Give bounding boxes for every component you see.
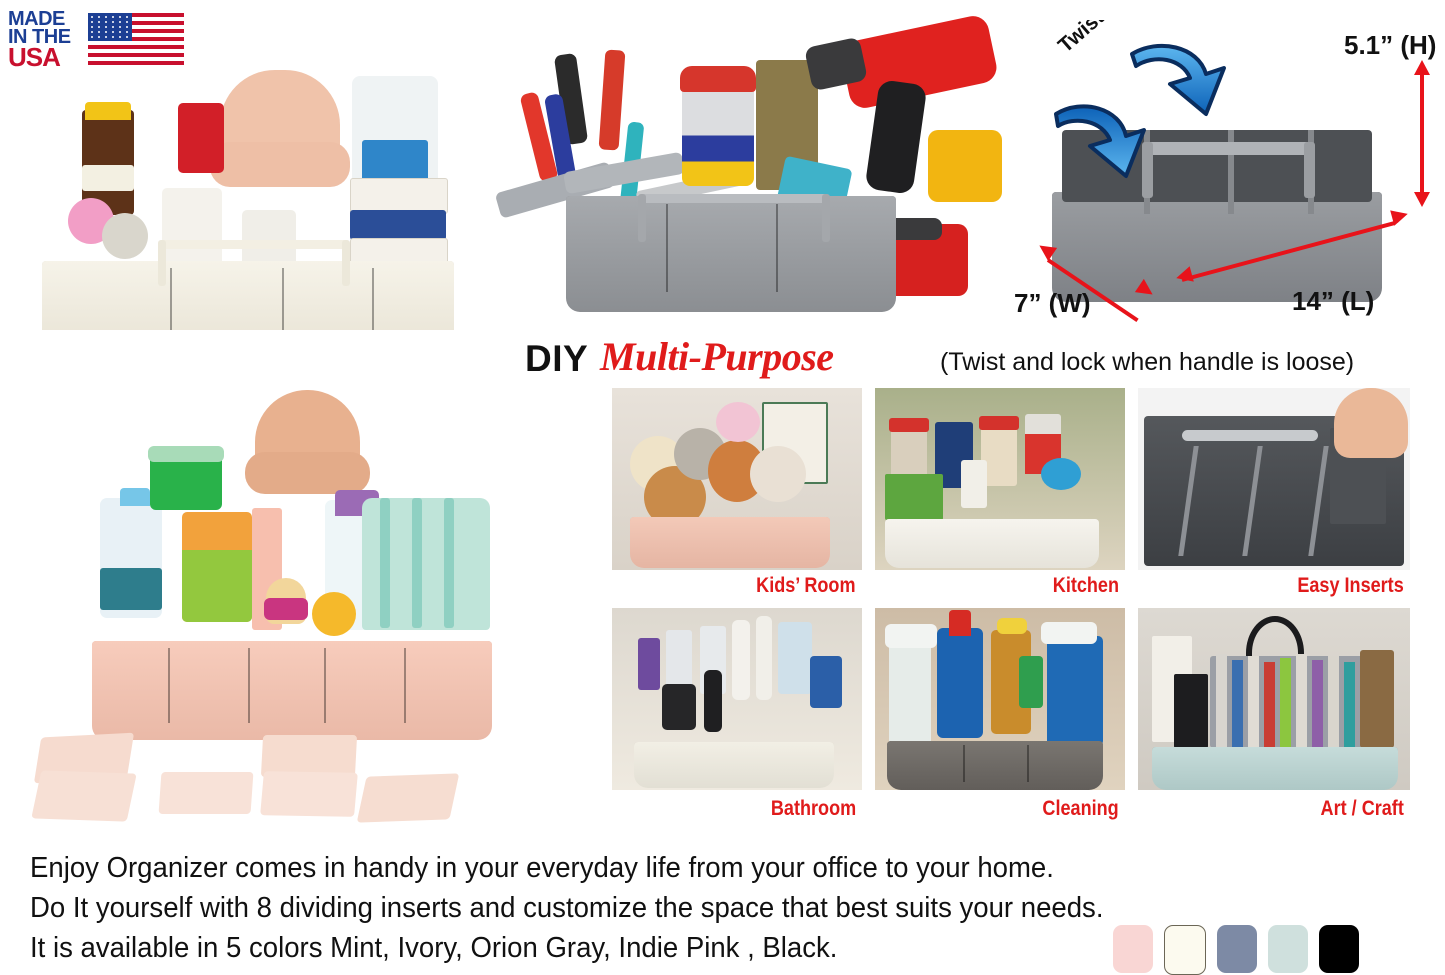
use-case-cell: Kids’ Room: [612, 388, 862, 600]
length-arrow-right: [1390, 206, 1410, 226]
vitamin-label: [82, 165, 134, 191]
caddy-dark-gray: [887, 706, 1103, 790]
alcohol-label: [362, 140, 428, 182]
divider-insert-2: [31, 770, 136, 821]
use-case-cell: Kitchen: [875, 388, 1125, 600]
toothbrush: [756, 616, 772, 700]
toothbrush: [732, 620, 750, 700]
caddy-pink: [630, 480, 830, 568]
jar-lid: [979, 416, 1019, 430]
badge-line-3: USA: [8, 46, 86, 69]
handle: [1182, 430, 1318, 441]
plush-toy: [716, 402, 760, 442]
toiletry-bottle: [638, 638, 660, 690]
height-label: 5.1” (H): [1344, 30, 1436, 61]
hand-fingers: [210, 142, 350, 187]
badge-line-1: MADE: [8, 10, 86, 28]
twist-lock-note: (Twist and lock when handle is loose): [940, 348, 1354, 377]
use-case-cell: Art / Craft: [1138, 608, 1410, 823]
divider-insert-3: [159, 772, 254, 814]
blue-dispenser: [810, 656, 842, 708]
mouthwash: [778, 622, 812, 694]
photo-tool-caddy: [478, 12, 1008, 322]
us-flag-icon: [88, 13, 184, 65]
headline-diy: DIY: [525, 338, 588, 380]
vitamin-cap: [85, 102, 131, 120]
yellow-cap: [997, 618, 1027, 634]
wd40-cap: [680, 66, 756, 92]
made-in-usa-badge: MADE IN THE USA: [8, 8, 188, 70]
use-case-cell: Bathroom: [612, 608, 862, 823]
use-case-caption: Kitchen: [1053, 574, 1119, 598]
red-bottle: [178, 103, 224, 173]
photo-dimension-diagram: 5.1” (H) 7” (W) 14” (L) Twist Lock: [1010, 20, 1445, 340]
height-arrow-up: [1414, 60, 1430, 75]
use-case-caption: Cleaning: [1043, 797, 1119, 821]
width-label: 7” (W): [1014, 288, 1091, 319]
swatch-indie-pink: [1113, 925, 1153, 973]
use-case-cell: Cleaning: [875, 608, 1125, 823]
swatch-orion-gray: [1217, 925, 1257, 973]
swatch-ivory: [1164, 925, 1206, 975]
baby-powder-cap: [120, 488, 150, 506]
jar-lid: [889, 418, 929, 432]
use-case-caption: Bathroom: [771, 797, 856, 821]
description-block: Enjoy Organizer comes in handy in your e…: [30, 848, 1180, 968]
caddy-mint: [1152, 716, 1398, 790]
color-swatches: [1113, 925, 1359, 975]
flashlight: [928, 130, 1002, 202]
photo-medicine-caddy: [20, 70, 460, 330]
caddy-ivory: [885, 484, 1099, 568]
spray-trigger: [1041, 622, 1097, 644]
description-line-2: Do It yourself with 8 dividing inserts a…: [30, 888, 1123, 928]
swatch-black: [1319, 925, 1359, 973]
height-arrow-down: [1414, 192, 1430, 207]
caddy-gray: [566, 112, 896, 312]
made-in-usa-text: MADE IN THE USA: [8, 10, 86, 69]
caddy-ivory: [634, 708, 834, 788]
caddy-ivory: [42, 190, 454, 330]
divider-insert-5: [260, 771, 358, 817]
use-case-caption: Kids’ Room: [757, 574, 856, 598]
green-jar-lid: [148, 446, 224, 462]
hand-fingers: [245, 452, 370, 494]
length-label: 14” (L): [1292, 286, 1374, 317]
clorox-cap: [949, 610, 971, 636]
use-case-cell: Easy Inserts: [1138, 388, 1410, 600]
green-pump: [1019, 656, 1043, 708]
divider-insert-6: [357, 773, 460, 822]
toiletry-bottle: [666, 630, 692, 692]
headline-multi-purpose: Multi-Purpose: [600, 333, 834, 380]
caddy-pink: [92, 570, 492, 740]
use-case-caption: Easy Inserts: [1298, 574, 1404, 598]
height-arrow-line: [1420, 72, 1424, 194]
description-line-3: It is available in 5 colors Mint, Ivory,…: [30, 928, 1123, 968]
use-case-caption: Art / Craft: [1321, 797, 1404, 821]
spray-trigger: [885, 624, 937, 648]
hand: [1334, 388, 1408, 458]
swatch-mint: [1268, 925, 1308, 973]
description-line-1: Enjoy Organizer comes in handy in your e…: [30, 848, 1123, 888]
